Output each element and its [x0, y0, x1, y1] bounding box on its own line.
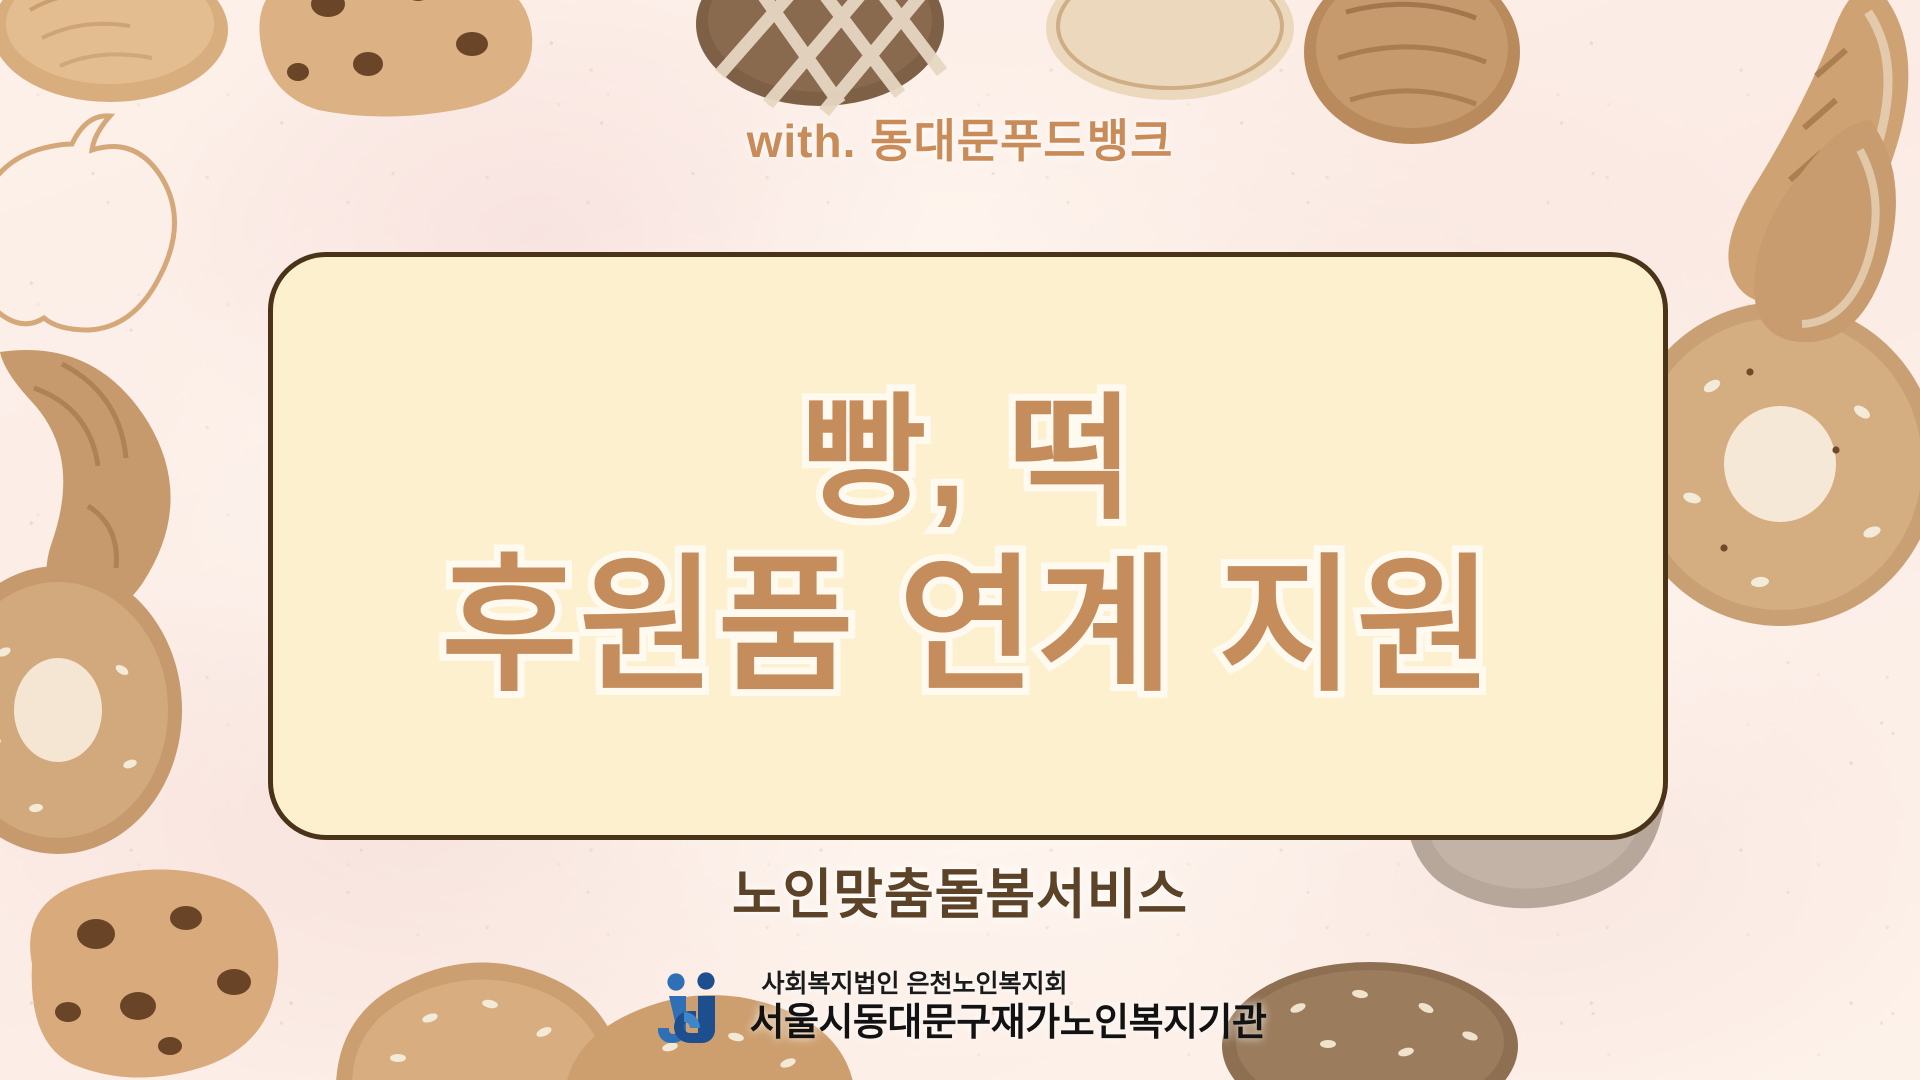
- footer-org-names: 사회복지법인 은천노인복지회 서울시동대문구재가노인복지기관: [750, 972, 1267, 1042]
- bread-illustration-bagel-left: [0, 560, 200, 860]
- footer-org-corporate-name: 사회복지법인 은천노인복지회: [750, 972, 1068, 997]
- bread-illustration-crosshatch-loaf: [690, 0, 950, 124]
- title-card: 빵, 떡 후원품 연계 지원: [268, 252, 1668, 840]
- poster-canvas: with. 동대문푸드뱅크 빵, 떡 후원품 연계 지원 노인맞춤돌봄서비스 사…: [0, 0, 1920, 1080]
- title-line-1: 빵, 떡: [801, 391, 1135, 527]
- organization-logo-icon: [654, 968, 732, 1046]
- footer-org-center-name: 서울시동대문구재가노인복지기관: [750, 1004, 1267, 1042]
- bread-illustration-cookie: [240, 0, 550, 122]
- footer-block: 사회복지법인 은천노인복지회 서울시동대문구재가노인복지기관: [0, 968, 1920, 1046]
- header-partner-text: with. 동대문푸드뱅크: [747, 118, 1174, 164]
- title-line-2: 후원품 연계 지원: [441, 553, 1494, 701]
- bread-illustration-oval-flatbread: [1040, 0, 1300, 112]
- subtitle-text: 노인맞춤돌봄서비스: [732, 868, 1188, 922]
- header-partner-line: with. 동대문푸드뱅크: [0, 118, 1920, 164]
- subtitle-line: 노인맞춤돌봄서비스: [0, 868, 1920, 922]
